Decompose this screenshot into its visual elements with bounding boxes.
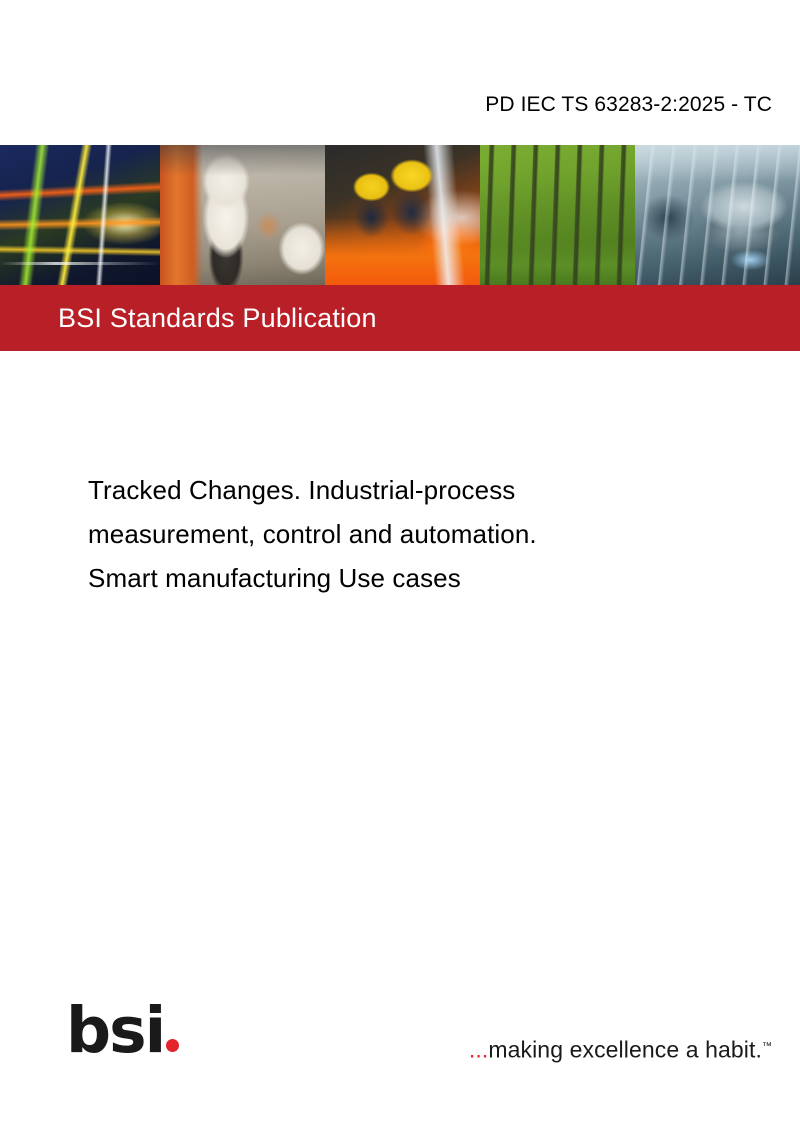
bsi-logo: bsi <box>66 1000 179 1062</box>
bsi-standards-banner-label: BSI Standards Publication <box>58 303 377 333</box>
bsi-tagline-text: making excellence a habit. <box>488 1037 762 1063</box>
bsi-standards-banner: BSI Standards Publication <box>0 285 800 351</box>
photo-panel-firefighters <box>325 145 480 285</box>
photo-panel-car-assembly-line <box>635 145 800 285</box>
page-title-line-3: Smart manufacturing Use cases <box>88 556 708 600</box>
page-title: Tracked Changes. Industrial-process meas… <box>88 468 708 600</box>
document-reference: PD IEC TS 63283-2:2025 - TC <box>485 91 772 119</box>
cover-photo-strip <box>0 145 800 285</box>
page-title-line-2: measurement, control and automation. <box>88 512 708 556</box>
photo-panel-night-traffic-light-trails <box>0 145 160 285</box>
bsi-tagline-trademark-icon: ™ <box>762 1041 772 1052</box>
photo-panel-warehouse-worker <box>160 145 325 285</box>
bsi-tagline: ...making excellence a habit.™ <box>469 1033 772 1064</box>
bsi-logo-wordmark: bsi <box>66 1000 164 1062</box>
page-title-line-1: Tracked Changes. Industrial-process <box>88 468 708 512</box>
bsi-logo-dot-icon <box>166 1039 179 1052</box>
bsi-tagline-ellipsis: ... <box>469 1037 488 1063</box>
photo-panel-forest <box>480 145 635 285</box>
